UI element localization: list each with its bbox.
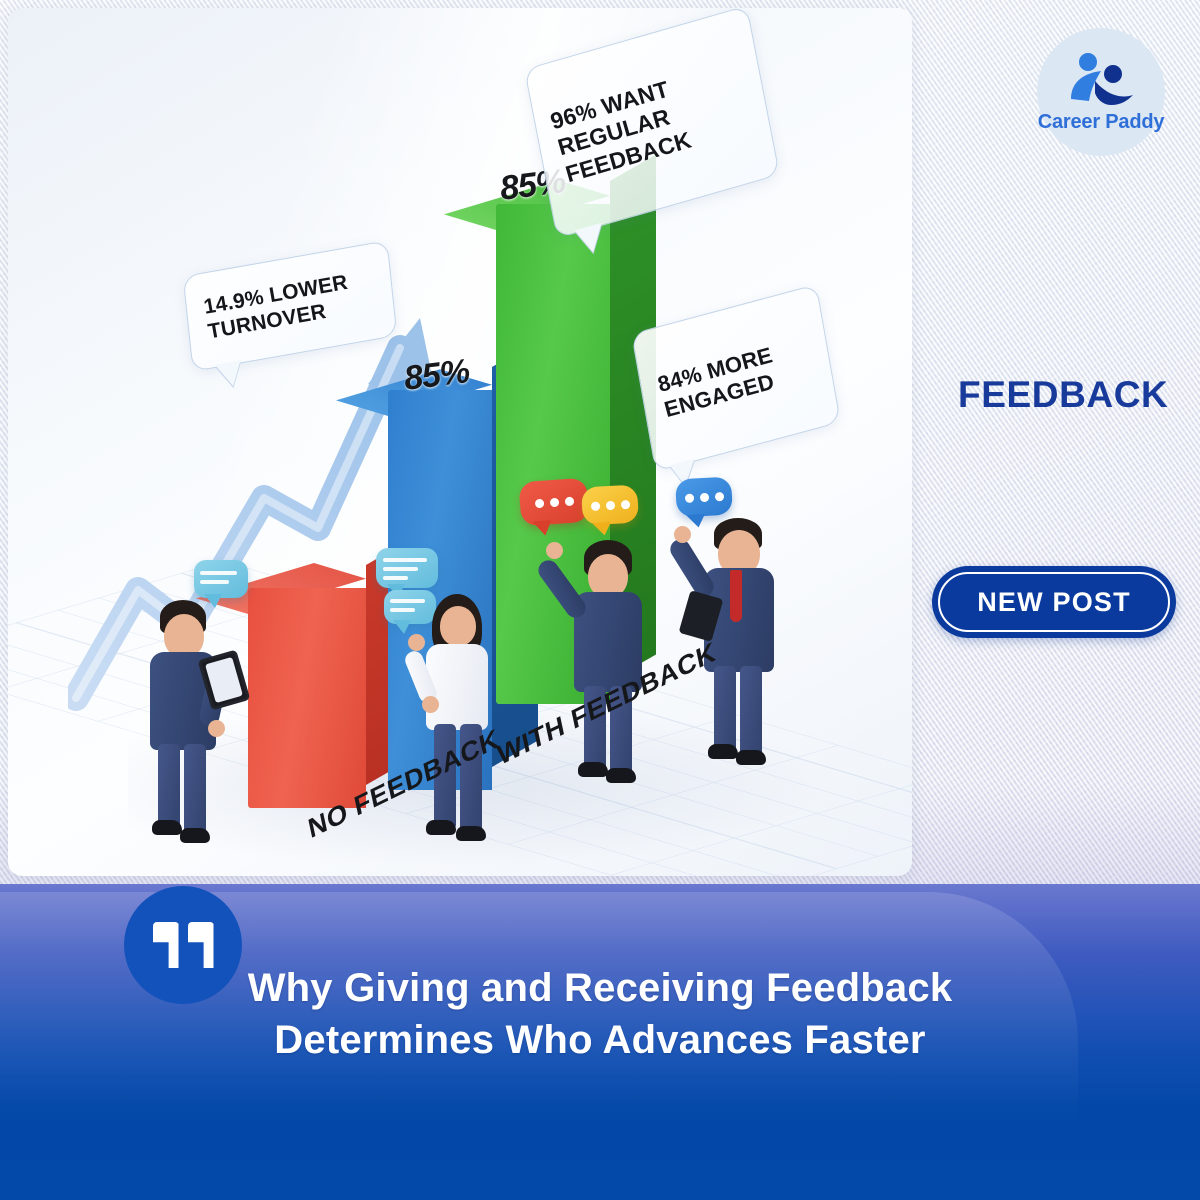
chat-bubble-lines-icon-2 [376,548,438,588]
brand-logo-text: Career Paddy [1038,111,1165,134]
chat-bubble-lines-icon-1 [194,560,248,598]
chat-bubble-yellow-icon [581,485,639,526]
new-post-button[interactable]: NEW POST [932,566,1176,638]
bar-front-face [248,588,366,808]
chat-bubble-red-icon [519,478,590,527]
bar-no-feedback [248,588,366,808]
page-title: FEEDBACK [958,374,1168,416]
chat-bubble-blue-icon [675,477,733,518]
chart-illustration-card: 85% 85% 14.9% LOWER TURNOVER 96% WANT RE… [8,8,912,876]
headline: Why Giving and Receiving Feedback Determ… [0,962,1200,1066]
bar-value-label-blue: 85% [402,352,471,399]
headline-line-2: Determines Who Advances Faster [0,1014,1200,1066]
chat-bubble-lines-icon-3 [384,590,436,624]
new-post-button-label: NEW POST [977,587,1131,618]
headline-line-1: Why Giving and Receiving Feedback [248,966,953,1010]
two-people-figures-icon [1065,51,1137,107]
brand-logo[interactable]: Career Paddy [1037,28,1165,156]
